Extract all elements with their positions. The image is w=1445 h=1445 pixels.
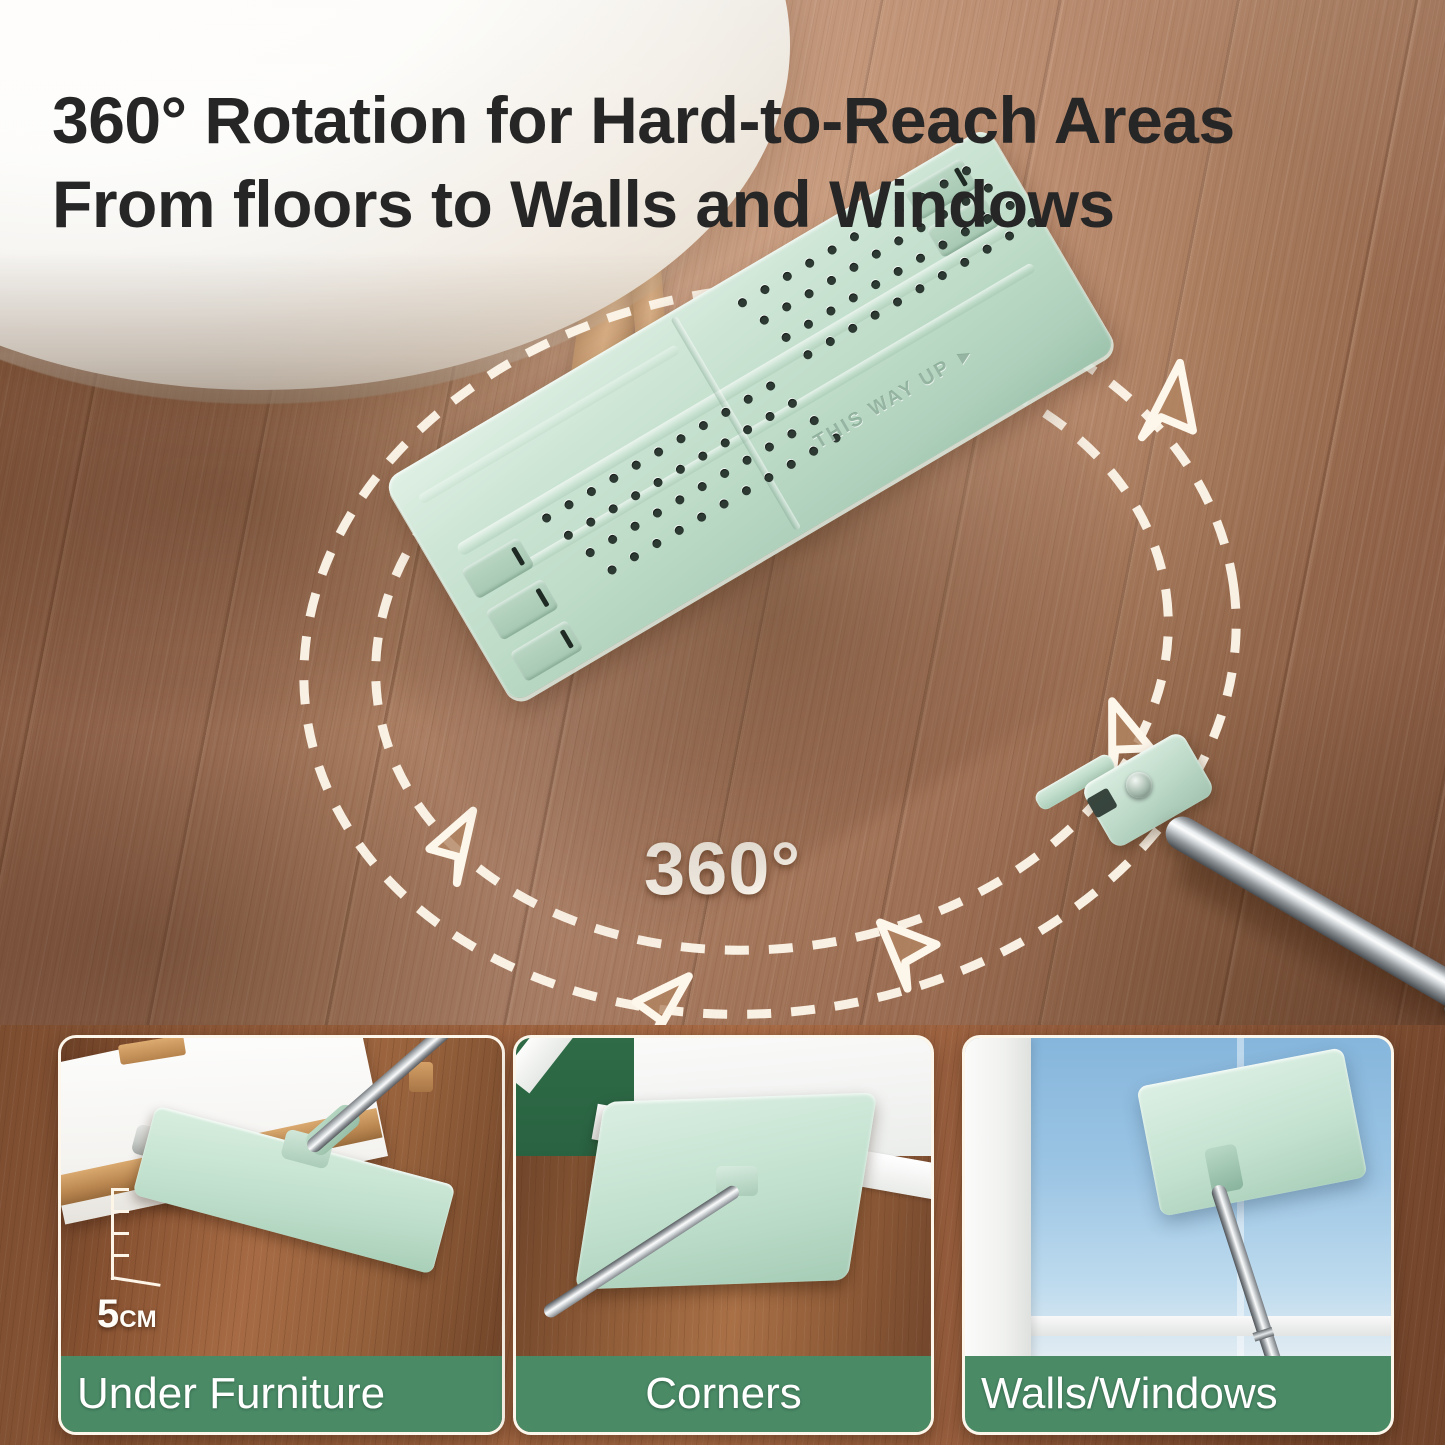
ruler-tick: [111, 1210, 129, 1213]
feature-panel-walls-windows[interactable]: Walls/Windows: [962, 1035, 1394, 1435]
headline-line-1: 360° Rotation for Hard-to-Reach Areas: [52, 83, 1235, 157]
clearance-measurement-label: 5CM: [97, 1292, 157, 1337]
mop-pad-seam: [670, 316, 801, 532]
feature-panel-row: 5CM Under Furniture Corners: [0, 1025, 1445, 1445]
panel-caption-walls-windows: Walls/Windows: [965, 1356, 1391, 1432]
hero-scene: 360° THIS WAY UP ►: [0, 0, 1445, 1025]
height-ruler-icon: [103, 1188, 139, 1280]
measurement-value: 5: [97, 1292, 119, 1336]
this-way-up-marking: THIS WAY UP ►: [810, 340, 981, 454]
measurement-unit: CM: [119, 1306, 156, 1333]
mop-swivel-pin: [1126, 772, 1152, 798]
window-sill: [1031, 1316, 1394, 1336]
panel-caption-corners: Corners: [516, 1356, 931, 1432]
ruler-tick: [111, 1188, 129, 1191]
feature-panel-corners[interactable]: Corners: [513, 1035, 934, 1435]
ruler-tick: [111, 1232, 129, 1235]
mop-pad-rib: [417, 344, 681, 505]
rotation-arrow-bottom-left: [634, 976, 693, 1025]
feature-panel-under-furniture[interactable]: 5CM Under Furniture: [58, 1035, 505, 1435]
ruler-tick: [111, 1254, 129, 1257]
mop-assembly: THIS WAY UP ►: [390, 272, 1445, 932]
panel-caption-under-furniture: Under Furniture: [61, 1356, 502, 1432]
product-infographic: 360° THIS WAY UP ►: [0, 0, 1445, 1445]
page-title: 360° Rotation for Hard-to-Reach Areas Fr…: [52, 78, 1397, 246]
headline-line-2: From floors to Walls and Windows: [52, 162, 1397, 246]
